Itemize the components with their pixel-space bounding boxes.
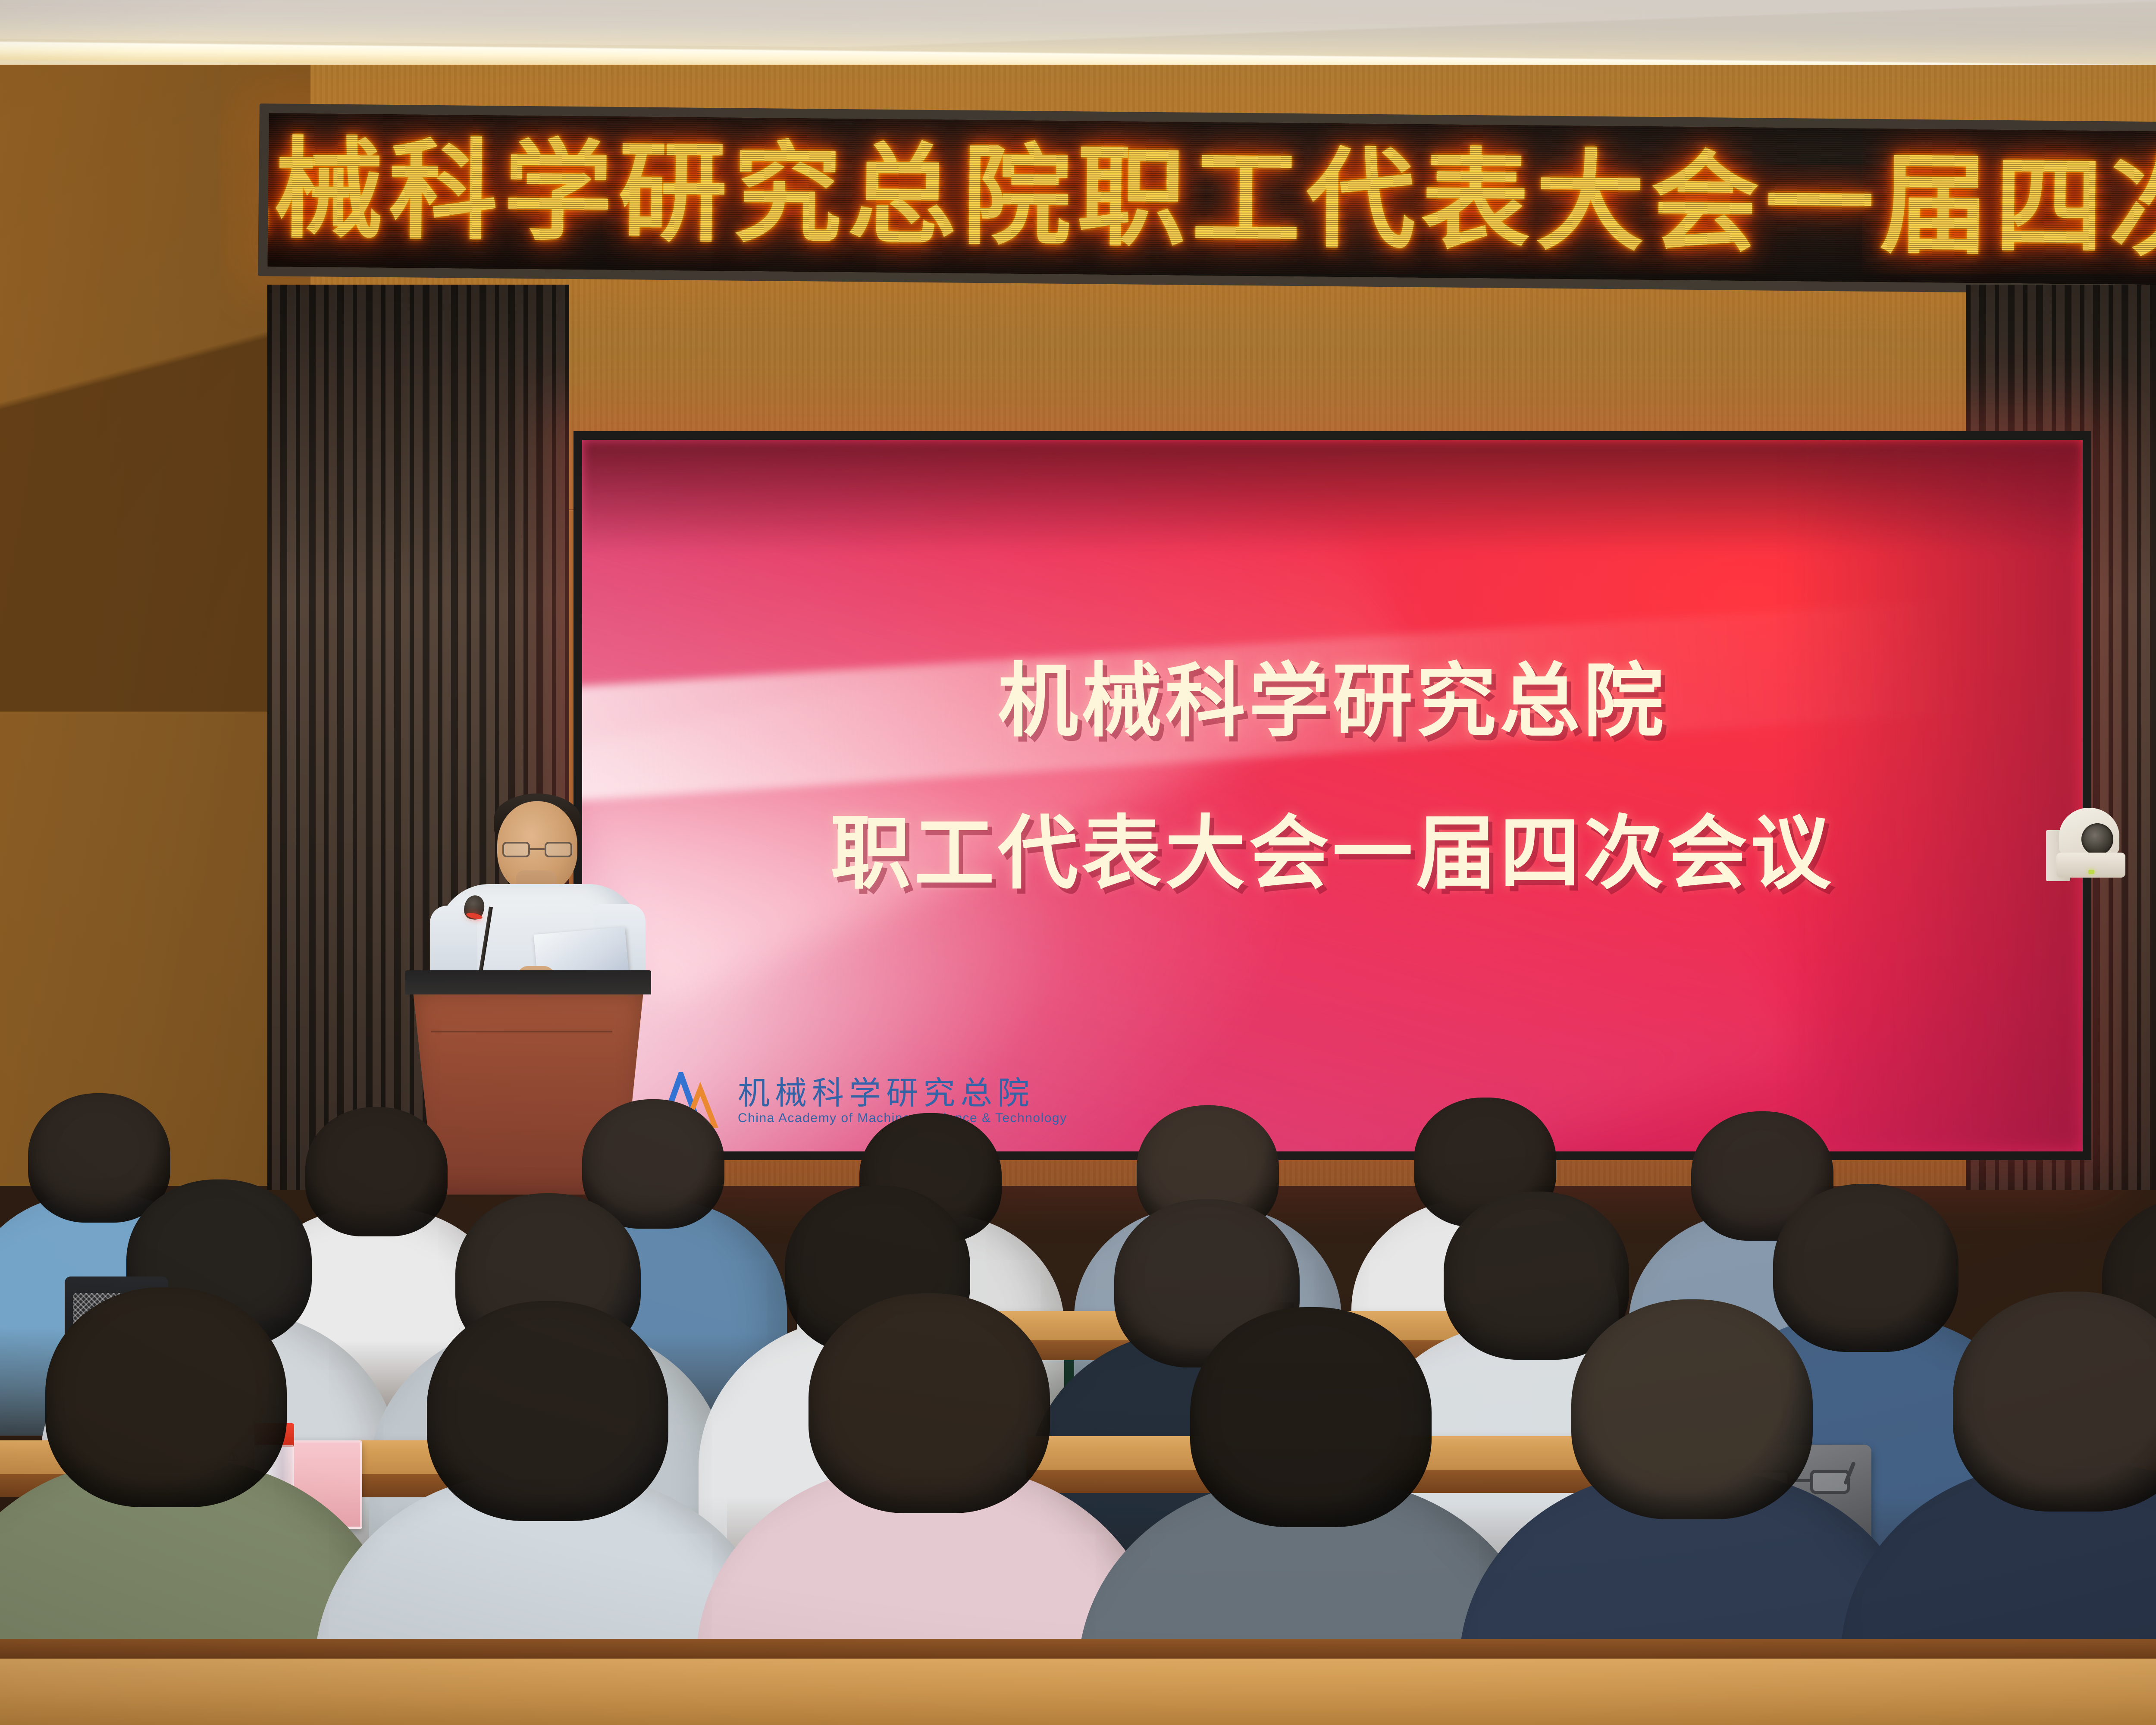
podium-top-surface <box>405 970 651 994</box>
camera-body <box>2059 808 2119 855</box>
podium-speaker <box>425 776 649 1000</box>
audience-member-head <box>1190 1307 1432 1527</box>
foreground-table-edge <box>0 1639 2156 1659</box>
logo-name-cn: 机械科学研究总院 <box>738 1077 1067 1109</box>
speaker-eyeglasses-icon <box>502 842 572 859</box>
podium-trim <box>431 1031 612 1032</box>
foreground-table <box>0 1656 2156 1725</box>
screen-title-line2: 职工代表大会一届四次会议 <box>582 777 2083 929</box>
ptz-camera-icon <box>2046 800 2128 882</box>
audience-member-head <box>45 1287 287 1507</box>
projection-screen: 机械科学研究总院 职工代表大会一届四次会议 机械科学研究总院 China Aca… <box>582 440 2083 1151</box>
audience-member-head <box>1953 1292 2156 1512</box>
camera-lens <box>2081 823 2113 855</box>
screen-title-block: 机械科学研究总院 职工代表大会一届四次会议 <box>582 625 2083 930</box>
camera-status-led <box>2088 870 2094 874</box>
led-banner-text: 机械科学研究总院职工代表大会一届四次会议 <box>258 135 2156 265</box>
led-banner-display: 机械科学研究总院职工代表大会一届四次会议 <box>258 103 2156 296</box>
screen-title-line1: 机械科学研究总院 <box>998 654 1667 748</box>
audience-member-head <box>808 1293 1050 1513</box>
projection-screen-frame: 机械科学研究总院 职工代表大会一届四次会议 机械科学研究总院 China Aca… <box>573 431 2091 1160</box>
conference-hall-photo: 机械科学研究总院职工代表大会一届四次会议 机械科学研究总院 职工代表大会一届四次… <box>0 0 2156 1725</box>
audience-member-head <box>1571 1299 1813 1519</box>
audience-member-head <box>427 1301 668 1521</box>
